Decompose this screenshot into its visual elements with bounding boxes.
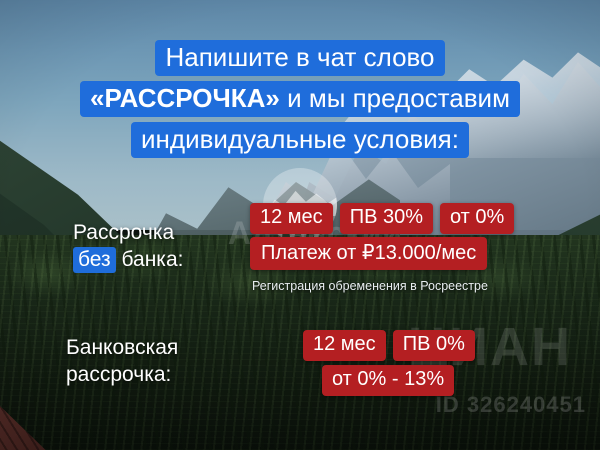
offer-label-no-bank-highlight: без (73, 247, 116, 273)
headline-line-1: Напишите в чат слово (0, 40, 600, 76)
badge-bank-term-months: 12 мес (303, 330, 386, 361)
headline-keyword: «РАССРОЧКА» (90, 83, 280, 113)
badge-downpayment: ПВ 30% (340, 203, 433, 234)
badge-row-no-bank-payment: Платеж от ₽13.000/мес (250, 237, 487, 270)
offer-label-no-bank-line1: Рассрочка (73, 221, 174, 244)
badge-rate-from: от 0% (440, 203, 514, 234)
headline-line-3: индивидуальные условия: (0, 122, 600, 158)
offer-label-bank-line2: рассрочка: (66, 363, 171, 386)
headline-line-2-rest: и мы предоставим (280, 83, 510, 113)
badge-bank-downpayment: ПВ 0% (393, 330, 475, 361)
badge-row-no-bank-terms: 12 мес ПВ 30% от 0% (250, 203, 514, 234)
headline-line-3-text: индивидуальные условия: (131, 122, 469, 158)
offer-label-no-bank-line2: банка: (116, 248, 184, 271)
offer-note-registration: Регистрация обременения в Росреестре (252, 279, 488, 293)
badge-monthly-payment: Платеж от ₽13.000/мес (250, 237, 487, 270)
badge-row-bank-terms: 12 мес ПВ 0% (303, 330, 475, 361)
badge-term-months: 12 мес (250, 203, 333, 234)
headline-line-2-box: «РАССРОЧКА» и мы предоставим (80, 81, 520, 117)
badge-bank-rate-range: от 0% - 13% (322, 365, 454, 396)
headline-block: Напишите в чат слово «РАССРОЧКА» и мы пр… (0, 40, 600, 163)
headline-line-2: «РАССРОЧКА» и мы предоставим (0, 81, 600, 117)
promo-banner: Алтайский ЦИАН ID 326240451 Напишите в ч… (0, 0, 600, 450)
offer-label-bank-line1: Банковская (66, 336, 178, 359)
offer-label-no-bank: Рассрочка без банка: (73, 220, 183, 274)
badge-row-bank-rate: от 0% - 13% (322, 365, 454, 396)
offer-label-bank: Банковская рассрочка: (66, 335, 178, 389)
headline-line-1-text: Напишите в чат слово (155, 40, 444, 76)
